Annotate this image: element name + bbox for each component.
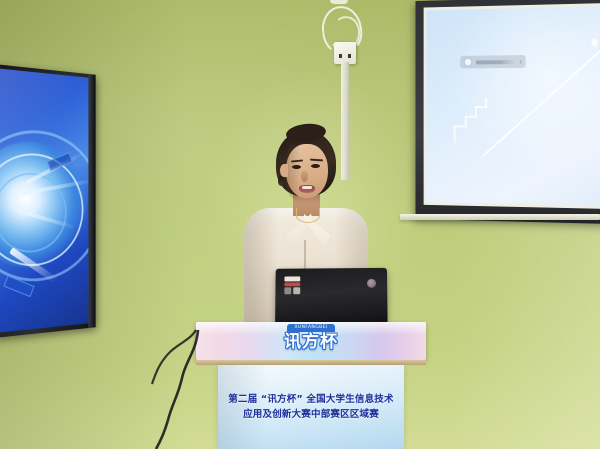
eye-left (292, 165, 301, 169)
photo-scene: ‹ (0, 0, 600, 449)
tv-side-edge (88, 74, 95, 328)
laptop-sticker (284, 276, 302, 294)
projector-light-wash (426, 6, 600, 206)
teeth (302, 186, 312, 189)
tv-screen-glare (0, 68, 88, 332)
slide-toolbar[interactable]: ‹ (460, 55, 526, 68)
podium-logo-text: 讯方杯 (284, 332, 338, 352)
circle-icon (464, 58, 472, 67)
socket-slots (339, 54, 351, 58)
blouse-shadow-left (244, 208, 278, 330)
laptop-brand-logo-icon (367, 279, 376, 288)
face-shadow (286, 144, 300, 198)
earring (278, 176, 284, 186)
ceiling-cable-anchor (330, 0, 348, 4)
projection-screen-border: ‹ (424, 3, 600, 209)
wall-mounted-tv (0, 64, 96, 338)
projection-screen: ‹ (415, 0, 600, 224)
laptop[interactable] (275, 268, 388, 324)
slide-toolbar-label (476, 60, 516, 64)
eye-right (311, 164, 320, 168)
podium-logo: XUNFANGBEI 讯方杯 (196, 324, 426, 352)
podium: XUNFANGBEI 讯方杯 第二届 “讯方杯” 全国大学生信息技术 应用及创新… (196, 322, 426, 449)
slide-stair-segment (485, 98, 487, 108)
chevron-left-icon[interactable]: ‹ (519, 58, 522, 66)
slide-stair-segment (454, 125, 456, 142)
nose (301, 171, 308, 182)
projected-slide: ‹ (426, 6, 600, 206)
tv-screen (0, 68, 88, 332)
podium-banner-line-2: 应用及创新大赛中部赛区区域赛 (218, 407, 404, 422)
podium-logo-topbar: XUNFANGBEI (287, 324, 334, 332)
podium-banner-line-1: 第二届 “讯方杯” 全国大学生信息技术 (218, 392, 404, 407)
projection-screen-ledge (400, 214, 600, 220)
necklace (296, 208, 320, 223)
podium-banner-text: 第二届 “讯方杯” 全国大学生信息技术 应用及创新大赛中部赛区区域赛 (218, 392, 404, 422)
power-socket-icon (334, 42, 356, 64)
